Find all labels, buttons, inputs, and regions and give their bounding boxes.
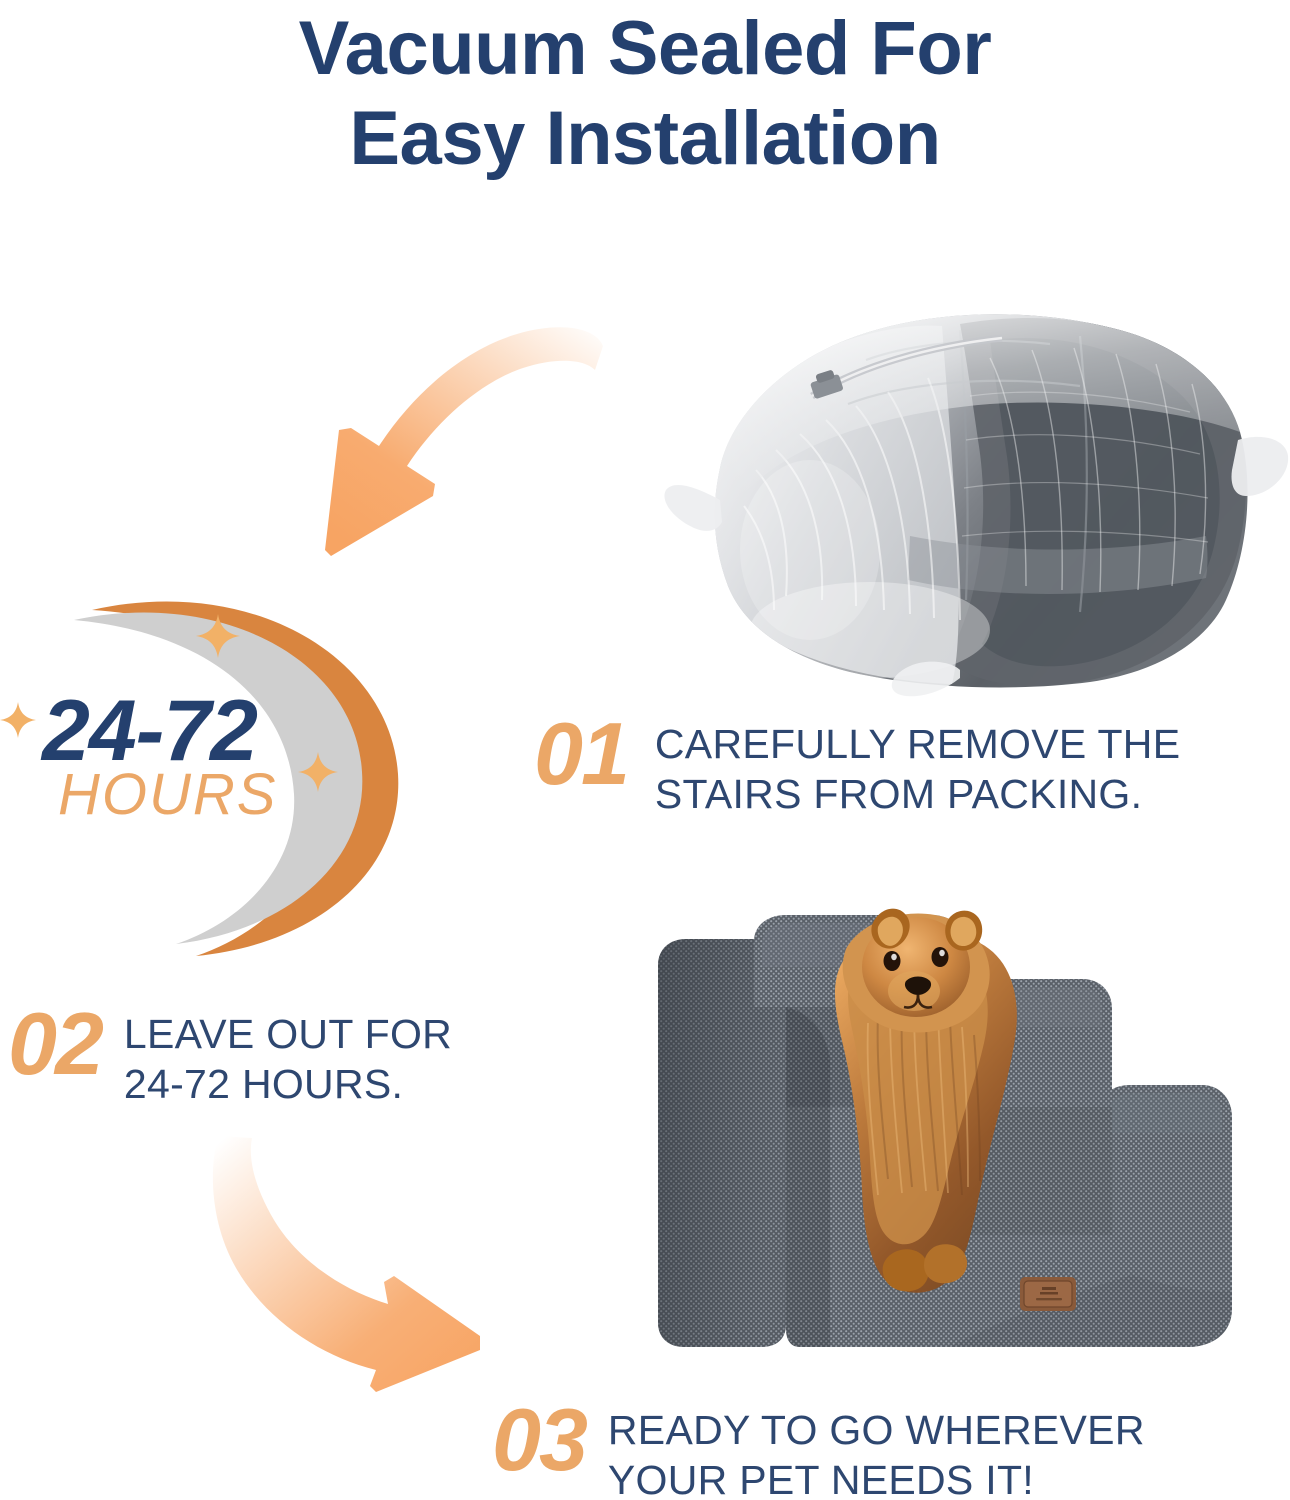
step-number: 03: [492, 1398, 586, 1482]
step-number: 02: [8, 1002, 102, 1086]
page-title-line-1: Vacuum Sealed For: [0, 4, 1290, 94]
infographic-page: Vacuum Sealed For Easy Installation: [0, 0, 1290, 1500]
step-number: 01: [534, 712, 628, 796]
step-description-line-1: CAREFULLY REMOVE THE: [655, 719, 1180, 769]
page-title-line-2: Easy Installation: [0, 94, 1290, 184]
step-description: CAREFULLY REMOVE THE STAIRS FROM PACKING…: [655, 712, 1180, 819]
step-description-line-2: YOUR PET NEEDS IT!: [608, 1455, 1145, 1500]
step-description-line-2: STAIRS FROM PACKING.: [655, 769, 1180, 819]
step-description-line-2: 24-72 HOURS.: [124, 1059, 452, 1109]
brand-logo-tag: [1020, 1277, 1076, 1311]
sparkle-icon: [0, 702, 36, 738]
step-description-line-1: READY TO GO WHEREVER: [608, 1405, 1145, 1455]
sparkle-icon: [196, 614, 240, 658]
sparkle-icon: [298, 752, 338, 792]
curved-arrow-down-right-icon: [180, 1128, 545, 1393]
step-description-line-1: LEAVE OUT FOR: [124, 1009, 452, 1059]
step-item-01: 01 CAREFULLY REMOVE THE STAIRS FROM PACK…: [534, 712, 1180, 819]
curved-arrow-down-left-icon: [295, 318, 605, 573]
page-title: Vacuum Sealed For Easy Installation: [0, 4, 1290, 183]
step-description: READY TO GO WHEREVER YOUR PET NEEDS IT!: [608, 1398, 1145, 1500]
badge-duration-unit: HOURS: [58, 766, 277, 824]
assembled-product-image: [650, 895, 1290, 1375]
step-item-03: 03 READY TO GO WHEREVER YOUR PET NEEDS I…: [492, 1398, 1145, 1500]
step-item-02: 02 LEAVE OUT FOR 24-72 HOURS.: [8, 1002, 452, 1109]
packed-product-image: [660, 300, 1290, 700]
step-description: LEAVE OUT FOR 24-72 HOURS.: [124, 1002, 452, 1109]
